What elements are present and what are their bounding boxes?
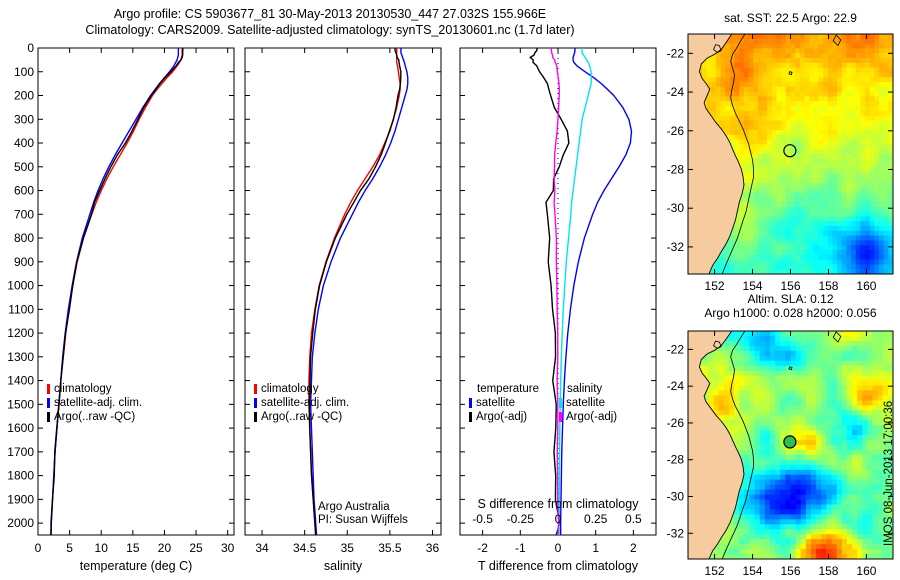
field-cell bbox=[800, 202, 805, 207]
field-cell bbox=[753, 92, 758, 97]
field-cell bbox=[837, 68, 842, 73]
field-cell bbox=[758, 240, 763, 245]
field-cell bbox=[739, 519, 745, 525]
field-cell bbox=[874, 44, 879, 49]
field-cell bbox=[801, 435, 807, 441]
field-cell bbox=[806, 390, 812, 396]
field-cell bbox=[826, 549, 832, 555]
field-cell bbox=[862, 386, 868, 392]
field-cell bbox=[852, 490, 858, 496]
field-cell bbox=[860, 202, 865, 207]
field-cell bbox=[763, 207, 768, 212]
field-cell bbox=[828, 149, 833, 154]
field-cell bbox=[739, 48, 744, 53]
field-cell bbox=[781, 116, 786, 121]
field-cell bbox=[842, 34, 847, 39]
field-cell bbox=[814, 106, 819, 111]
field-cell bbox=[832, 39, 837, 44]
field-cell bbox=[821, 485, 827, 491]
field-cell bbox=[739, 490, 745, 496]
field-cell bbox=[763, 226, 768, 231]
field-cell bbox=[823, 245, 828, 250]
field-cell bbox=[832, 465, 838, 471]
field-cell bbox=[832, 216, 837, 221]
field-cell bbox=[801, 405, 807, 411]
field-cell bbox=[749, 264, 754, 269]
field-cell bbox=[791, 183, 796, 188]
field-cell bbox=[749, 101, 754, 106]
field-cell bbox=[786, 173, 791, 178]
field-cell bbox=[739, 255, 744, 260]
svg-text:35.5: 35.5 bbox=[378, 541, 402, 555]
field-cell bbox=[837, 120, 842, 125]
field-cell bbox=[775, 376, 781, 382]
field-cell bbox=[837, 366, 843, 372]
field-cell bbox=[828, 120, 833, 125]
field-cell bbox=[744, 255, 749, 260]
field-cell bbox=[796, 386, 802, 392]
field-cell bbox=[832, 72, 837, 77]
field-cell bbox=[874, 207, 879, 212]
field-cell bbox=[846, 101, 851, 106]
field-cell bbox=[832, 460, 838, 466]
field-cell bbox=[867, 490, 873, 496]
field-cell bbox=[772, 87, 777, 92]
field-cell bbox=[760, 519, 766, 525]
field-cell bbox=[724, 390, 730, 396]
field-cell bbox=[724, 400, 730, 406]
field-cell bbox=[796, 376, 802, 382]
field-cell bbox=[719, 544, 725, 550]
field-cell bbox=[785, 395, 791, 401]
field-cell bbox=[873, 420, 879, 426]
field-cell bbox=[739, 549, 745, 555]
field-cell bbox=[809, 135, 814, 140]
field-cell bbox=[874, 34, 879, 39]
field-cell bbox=[826, 410, 832, 416]
field-cell bbox=[809, 202, 814, 207]
field-cell bbox=[809, 68, 814, 73]
field-cell bbox=[818, 212, 823, 217]
field-cell bbox=[874, 168, 879, 173]
field-cell bbox=[842, 495, 848, 501]
field-cell bbox=[851, 87, 856, 92]
field-cell bbox=[770, 455, 776, 461]
field-cell bbox=[758, 53, 763, 58]
field-cell bbox=[809, 207, 814, 212]
field-cell bbox=[777, 159, 782, 164]
field-cell bbox=[821, 425, 827, 431]
field-cell bbox=[785, 470, 791, 476]
field-cell bbox=[775, 470, 781, 476]
field-cell bbox=[865, 116, 870, 121]
field-cell bbox=[791, 236, 796, 241]
field-cell bbox=[821, 549, 827, 555]
field-cell bbox=[791, 534, 797, 540]
field-cell bbox=[857, 415, 863, 421]
field-cell bbox=[862, 371, 868, 377]
field-cell bbox=[753, 68, 758, 73]
field-cell bbox=[832, 231, 837, 236]
field-cell bbox=[873, 524, 879, 530]
field-cell bbox=[837, 77, 842, 82]
field-cell bbox=[786, 125, 791, 130]
field-cell bbox=[791, 331, 797, 337]
field-cell bbox=[744, 361, 750, 367]
field-cell bbox=[729, 336, 735, 342]
field-cell bbox=[765, 400, 771, 406]
field-cell bbox=[775, 415, 781, 421]
field-cell bbox=[867, 450, 873, 456]
field-cell bbox=[804, 173, 809, 178]
sla-map-panel: Altim. SLA: 0.12Argo h1000: 0.028 h2000:… bbox=[660, 288, 900, 578]
field-cell bbox=[725, 106, 730, 111]
field-cell bbox=[729, 405, 735, 411]
field-cell bbox=[772, 34, 777, 39]
field-cell bbox=[791, 221, 796, 226]
field-cell bbox=[870, 192, 875, 197]
field-cell bbox=[874, 130, 879, 135]
field-cell bbox=[749, 231, 754, 236]
field-cell bbox=[826, 361, 832, 367]
field-cell bbox=[809, 159, 814, 164]
field-cell bbox=[730, 39, 735, 44]
field-cell bbox=[826, 490, 832, 496]
field-cell bbox=[724, 361, 730, 367]
field-cell bbox=[791, 159, 796, 164]
field-cell bbox=[801, 395, 807, 401]
field-cell bbox=[846, 68, 851, 73]
field-cell bbox=[826, 500, 832, 506]
field-cell bbox=[744, 154, 749, 159]
field-cell bbox=[721, 77, 726, 82]
field-cell bbox=[821, 460, 827, 466]
field-cell bbox=[801, 549, 807, 555]
field-cell bbox=[765, 410, 771, 416]
field-cell bbox=[806, 450, 812, 456]
field-cell bbox=[852, 534, 858, 540]
field-cell bbox=[821, 376, 827, 382]
field-cell bbox=[725, 82, 730, 87]
field-cell bbox=[780, 465, 786, 471]
field-cell bbox=[791, 255, 796, 260]
field-cell bbox=[781, 231, 786, 236]
field-cell bbox=[842, 197, 847, 202]
legend-label: Argo(..raw -QC) bbox=[54, 411, 135, 423]
field-cell bbox=[753, 63, 758, 68]
field-cell bbox=[795, 58, 800, 63]
field-cell bbox=[879, 82, 884, 87]
field-cell bbox=[852, 361, 858, 367]
field-cell bbox=[823, 125, 828, 130]
field-cell bbox=[758, 120, 763, 125]
field-cell bbox=[832, 226, 837, 231]
field-cell bbox=[818, 44, 823, 49]
field-cell bbox=[749, 34, 754, 39]
field-cell bbox=[811, 529, 817, 535]
field-cell bbox=[828, 44, 833, 49]
field-cell bbox=[791, 125, 796, 130]
field-cell bbox=[721, 116, 726, 121]
field-cell bbox=[739, 534, 745, 540]
field-cell bbox=[832, 68, 837, 73]
field-cell bbox=[832, 381, 838, 387]
field-cell bbox=[780, 514, 786, 520]
field-cell bbox=[777, 264, 782, 269]
field-cell bbox=[804, 92, 809, 97]
field-cell bbox=[739, 245, 744, 250]
field-cell bbox=[800, 207, 805, 212]
field-cell bbox=[760, 544, 766, 550]
field-cell bbox=[739, 260, 744, 265]
field-cell bbox=[801, 381, 807, 387]
field-cell bbox=[763, 58, 768, 63]
field-cell bbox=[780, 529, 786, 535]
field-cell bbox=[865, 202, 870, 207]
field-cell bbox=[765, 356, 771, 362]
field-cell bbox=[767, 63, 772, 68]
profile-location-marker[interactable] bbox=[784, 436, 796, 448]
field-cell bbox=[729, 425, 735, 431]
field-cell bbox=[758, 212, 763, 217]
field-cell bbox=[870, 216, 875, 221]
field-cell bbox=[781, 173, 786, 178]
field-cell bbox=[865, 178, 870, 183]
field-cell bbox=[763, 140, 768, 145]
field-cell bbox=[775, 386, 781, 392]
field-cell bbox=[865, 255, 870, 260]
field-cell bbox=[767, 183, 772, 188]
field-cell bbox=[823, 159, 828, 164]
field-cell bbox=[842, 376, 848, 382]
field-cell bbox=[750, 519, 756, 525]
field-cell bbox=[837, 236, 842, 241]
field-cell bbox=[870, 48, 875, 53]
field-cell bbox=[734, 386, 740, 392]
field-cell bbox=[846, 245, 851, 250]
field-cell bbox=[851, 168, 856, 173]
field-cell bbox=[842, 68, 847, 73]
field-cell bbox=[874, 48, 879, 53]
field-cell bbox=[847, 465, 853, 471]
field-cell bbox=[770, 475, 776, 481]
legend-label: satellite bbox=[566, 397, 605, 409]
field-cell bbox=[851, 34, 856, 39]
field-cell bbox=[862, 460, 868, 466]
field-cell bbox=[870, 125, 875, 130]
field-cell bbox=[775, 504, 781, 510]
field-cell bbox=[777, 207, 782, 212]
field-cell bbox=[809, 44, 814, 49]
field-cell bbox=[846, 58, 851, 63]
field-cell bbox=[809, 116, 814, 121]
field-cell bbox=[818, 221, 823, 226]
field-cell bbox=[758, 34, 763, 39]
field-cell bbox=[750, 460, 756, 466]
field-cell bbox=[823, 92, 828, 97]
field-cell bbox=[775, 495, 781, 501]
field-cell bbox=[725, 116, 730, 121]
field-cell bbox=[750, 415, 756, 421]
field-cell bbox=[816, 376, 822, 382]
field-cell bbox=[735, 68, 740, 73]
field-cell bbox=[777, 202, 782, 207]
field-cell bbox=[744, 245, 749, 250]
field-cell bbox=[777, 120, 782, 125]
field-cell bbox=[856, 135, 861, 140]
field-cell bbox=[739, 144, 744, 149]
field-cell bbox=[846, 197, 851, 202]
field-cell bbox=[781, 96, 786, 101]
field-cell bbox=[852, 341, 858, 347]
field-cell bbox=[739, 106, 744, 111]
field-cell bbox=[795, 39, 800, 44]
field-cell bbox=[804, 111, 809, 116]
field-cell bbox=[795, 96, 800, 101]
field-cell bbox=[870, 207, 875, 212]
field-cell bbox=[865, 39, 870, 44]
field-cell bbox=[744, 455, 750, 461]
field-cell bbox=[870, 236, 875, 241]
field-cell bbox=[763, 130, 768, 135]
field-cell bbox=[796, 519, 802, 525]
field-cell bbox=[862, 490, 868, 496]
field-cell bbox=[860, 255, 865, 260]
field-cell bbox=[857, 386, 863, 392]
field-cell bbox=[860, 168, 865, 173]
legend-swatch bbox=[254, 398, 257, 408]
field-cell bbox=[884, 226, 889, 231]
svg-text:35: 35 bbox=[341, 541, 355, 555]
field-cell bbox=[826, 331, 832, 337]
field-cell bbox=[791, 164, 796, 169]
field-cell bbox=[780, 490, 786, 496]
field-cell bbox=[826, 480, 832, 486]
field-cell bbox=[837, 101, 842, 106]
field-cell bbox=[852, 415, 858, 421]
field-cell bbox=[865, 48, 870, 53]
field-cell bbox=[874, 140, 879, 145]
field-cell bbox=[837, 519, 843, 525]
field-cell bbox=[857, 500, 863, 506]
field-cell bbox=[791, 351, 797, 357]
field-cell bbox=[714, 405, 720, 411]
field-cell bbox=[749, 226, 754, 231]
field-cell bbox=[852, 435, 858, 441]
field-cell bbox=[884, 154, 889, 159]
field-cell bbox=[734, 361, 740, 367]
field-cell bbox=[772, 48, 777, 53]
field-cell bbox=[744, 221, 749, 226]
field-cell bbox=[846, 87, 851, 92]
field-cell bbox=[842, 410, 848, 416]
field-cell bbox=[867, 465, 873, 471]
field-cell bbox=[818, 255, 823, 260]
field-cell bbox=[753, 207, 758, 212]
field-cell bbox=[828, 240, 833, 245]
field-cell bbox=[775, 534, 781, 540]
field-cell bbox=[770, 470, 776, 476]
field-cell bbox=[735, 140, 740, 145]
field-cell bbox=[739, 390, 745, 396]
field-cell bbox=[749, 111, 754, 116]
field-cell bbox=[767, 159, 772, 164]
field-cell bbox=[865, 87, 870, 92]
field-cell bbox=[765, 435, 771, 441]
field-cell bbox=[821, 539, 827, 545]
field-cell bbox=[832, 346, 838, 352]
field-cell bbox=[758, 236, 763, 241]
field-cell bbox=[837, 154, 842, 159]
field-cell bbox=[744, 386, 750, 392]
field-cell bbox=[800, 183, 805, 188]
field-cell bbox=[878, 331, 884, 337]
field-cell bbox=[719, 395, 725, 401]
field-cell bbox=[744, 125, 749, 130]
field-cell bbox=[753, 255, 758, 260]
field-cell bbox=[879, 183, 884, 188]
field-cell bbox=[860, 240, 865, 245]
field-cell bbox=[852, 460, 858, 466]
field-cell bbox=[842, 154, 847, 159]
field-cell bbox=[862, 381, 868, 387]
field-cell bbox=[867, 514, 873, 520]
field-cell bbox=[772, 154, 777, 159]
field-cell bbox=[837, 425, 843, 431]
field-cell bbox=[874, 58, 879, 63]
field-cell bbox=[781, 87, 786, 92]
field-cell bbox=[832, 125, 837, 130]
field-cell bbox=[873, 529, 879, 535]
field-cell bbox=[846, 255, 851, 260]
field-cell bbox=[775, 351, 781, 357]
field-cell bbox=[837, 164, 842, 169]
field-cell bbox=[739, 400, 745, 406]
legend-swatch bbox=[47, 398, 50, 408]
field-cell bbox=[821, 445, 827, 451]
field-cell bbox=[785, 420, 791, 426]
x-tick-label-salinity: 0.25 bbox=[584, 512, 608, 526]
field-cell bbox=[847, 445, 853, 451]
field-cell bbox=[795, 34, 800, 39]
field-cell bbox=[837, 509, 843, 515]
field-cell bbox=[884, 82, 889, 87]
field-cell bbox=[823, 264, 828, 269]
field-cell bbox=[735, 144, 740, 149]
field-cell bbox=[816, 549, 822, 555]
field-cell bbox=[816, 356, 822, 362]
field-cell bbox=[777, 34, 782, 39]
field-cell bbox=[749, 92, 754, 97]
field-cell bbox=[781, 92, 786, 97]
field-cell bbox=[791, 63, 796, 68]
field-cell bbox=[860, 173, 865, 178]
field-cell bbox=[874, 92, 879, 97]
field-cell bbox=[786, 77, 791, 82]
field-cell bbox=[826, 485, 832, 491]
field-cell bbox=[791, 549, 797, 555]
field-cell bbox=[842, 415, 848, 421]
field-cell bbox=[837, 92, 842, 97]
field-cell bbox=[823, 58, 828, 63]
field-cell bbox=[837, 48, 842, 53]
field-cell bbox=[763, 48, 768, 53]
field-cell bbox=[811, 485, 817, 491]
field-cell bbox=[804, 221, 809, 226]
field-cell bbox=[801, 529, 807, 535]
field-cell bbox=[796, 504, 802, 510]
field-cell bbox=[763, 77, 768, 82]
